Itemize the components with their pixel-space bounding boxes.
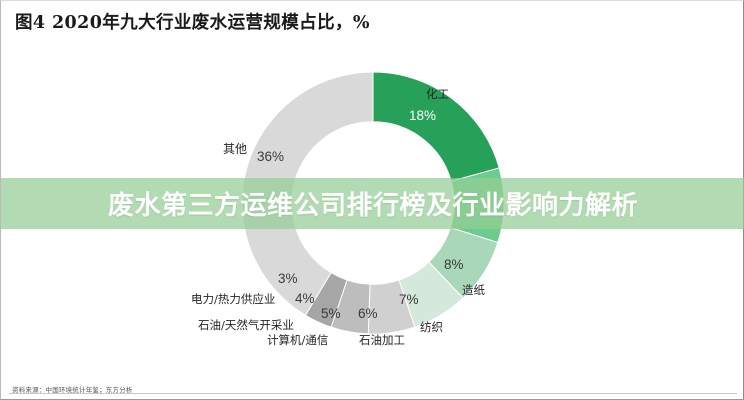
slice-value-paper: 8% xyxy=(444,257,464,272)
chart-canvas: 图4 2020年九大行业废水运营规模占比，% 18% 化工 8% 造纸 7% 纺… xyxy=(0,0,744,400)
slice-value-other: 36% xyxy=(257,149,284,164)
slice-label-other: 其他 xyxy=(223,140,247,157)
slice-value-textile: 7% xyxy=(399,292,419,307)
slice-label-paper: 造纸 xyxy=(462,282,485,298)
overlay-banner: 废水第三方运维公司排行榜及行业影响力解析 xyxy=(1,178,744,229)
page-title: 图4 2020年九大行业废水运营规模占比，% xyxy=(15,9,370,34)
slice-value-chemical: 18% xyxy=(409,108,436,123)
slice-label-power-heat: 电力/热力供应业 xyxy=(191,291,275,307)
slice-value-computer-comm: 5% xyxy=(321,306,341,321)
source-note: 资料来源：中国环境统计年鉴；东方分析 xyxy=(12,384,133,394)
slice-value-power-heat: 3% xyxy=(278,271,298,286)
slice-value-petro-refining: 6% xyxy=(358,306,378,321)
slice-label-textile: 纺织 xyxy=(420,319,443,335)
slice-label-chemical: 化工 xyxy=(426,86,449,102)
slice-label-computer-comm: 计算机/通信 xyxy=(267,332,328,348)
slice-label-oil-gas: 石油/天然气开采业 xyxy=(198,317,294,333)
slice-value-oil-gas: 4% xyxy=(295,291,315,306)
overlay-banner-headline: 废水第三方运维公司排行榜及行业影响力解析 xyxy=(108,185,638,222)
slice-label-petro-refining: 石油加工 xyxy=(359,332,405,348)
